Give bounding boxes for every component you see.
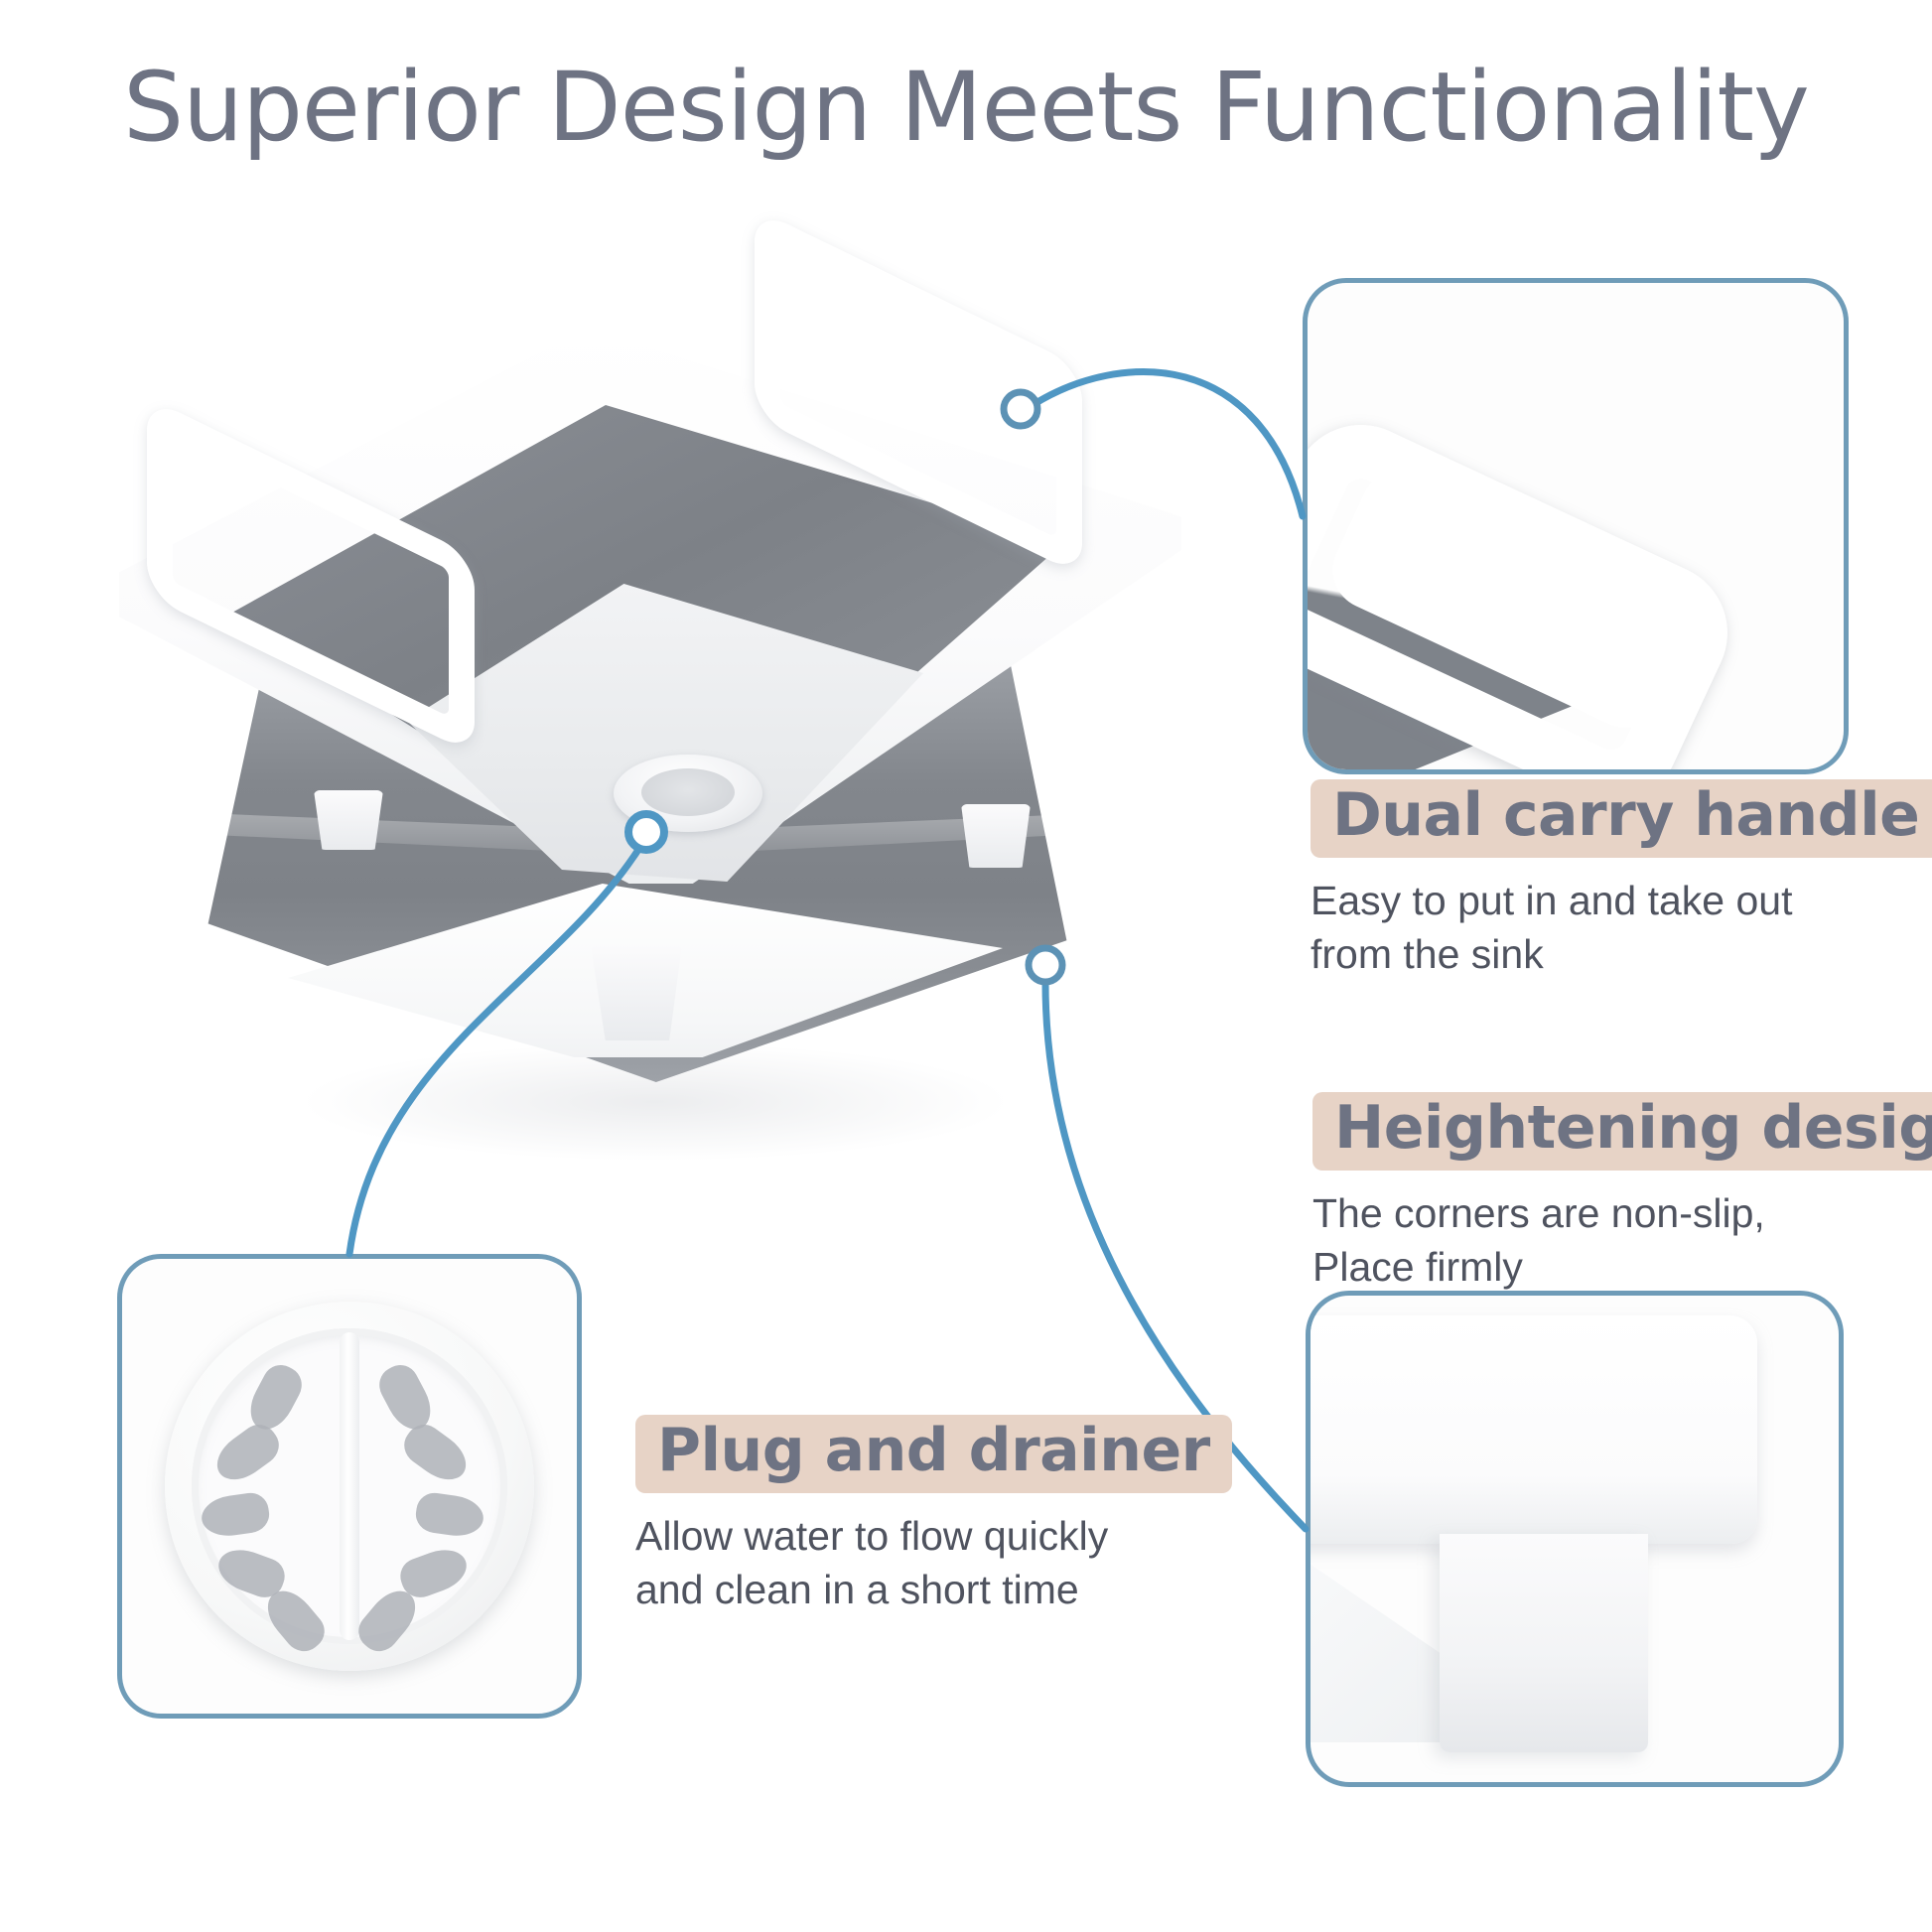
feature-description-dual-carry-handle: Easy to put in and take out from the sin… xyxy=(1311,874,1932,981)
inset-foot-base-edge xyxy=(1306,1315,1757,1544)
inset-foot-leg xyxy=(1440,1534,1648,1752)
infographic-page: Superior Design Meets Functionality xyxy=(0,0,1932,1932)
feature-title-heightening-design: Heightening design xyxy=(1312,1092,1932,1171)
feature-block-heightening-design: Heightening design The corners are non-s… xyxy=(1312,1092,1932,1294)
inset-photo-dual-carry-handle xyxy=(1303,278,1849,774)
feature-title-dual-carry-handle: Dual carry handle xyxy=(1311,779,1932,858)
inset-photo-plug-and-drainer xyxy=(117,1254,582,1719)
product-foot-right-icon xyxy=(961,804,1031,868)
feature-block-dual-carry-handle: Dual carry handle Easy to put in and tak… xyxy=(1311,779,1932,981)
product-foot-left-icon xyxy=(314,790,383,850)
feature-title-plug-and-drainer: Plug and drainer xyxy=(635,1415,1232,1493)
inset-photo-heightening-foot xyxy=(1306,1291,1844,1787)
page-title: Superior Design Meets Functionality xyxy=(0,52,1932,163)
product-foot-front-icon xyxy=(591,945,682,1040)
feature-block-plug-and-drainer: Plug and drainer Allow water to flow qui… xyxy=(635,1415,1232,1616)
feature-description-heightening-design: The corners are non-slip, Place firmly xyxy=(1312,1186,1932,1294)
product-drain-opening xyxy=(641,768,735,816)
feature-description-plug-and-drainer: Allow water to flow quickly and clean in… xyxy=(635,1509,1232,1616)
product-image-main xyxy=(119,288,1181,1162)
inset-drain-divider xyxy=(340,1332,359,1640)
